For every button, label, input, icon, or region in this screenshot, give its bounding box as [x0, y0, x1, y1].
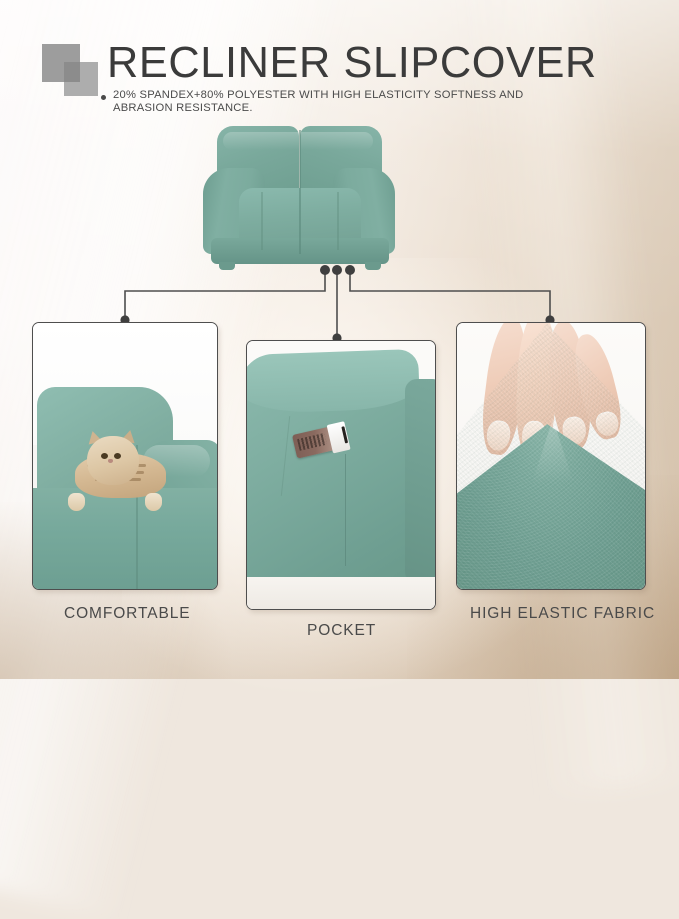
caption-high-elastic-fabric: HIGH ELASTIC FABRIC: [470, 605, 655, 623]
feature-panel-high-elastic-fabric[interactable]: [456, 322, 646, 590]
kitten-eye-left: [101, 453, 108, 459]
panel-image-comfortable: [33, 323, 217, 589]
feature-panel-pocket[interactable]: [246, 340, 436, 610]
pocket-floor-shadow: [247, 577, 435, 609]
connector-line-left: [125, 272, 325, 318]
subtitle-block: 20% SPANDEX+80% POLYESTER WITH HIGH ELAS…: [101, 89, 531, 114]
page-title: RECLINER SLIPCOVER: [107, 39, 597, 87]
caption-pocket: POCKET: [307, 622, 376, 640]
kitten-nose: [108, 459, 113, 463]
kitten-paw-left: [68, 493, 85, 511]
hero-product-image: [205, 126, 473, 274]
kitten-eye-right: [114, 453, 121, 459]
sofa-foot-right: [365, 262, 381, 270]
logo-square-overlap: [64, 62, 80, 82]
connector-line-right: [350, 272, 550, 318]
kitten-head: [87, 436, 138, 485]
bullet-dot-icon: [101, 95, 106, 100]
kitten-paw-right: [145, 493, 162, 511]
subtitle-text: 20% SPANDEX+80% POLYESTER WITH HIGH ELAS…: [113, 89, 531, 114]
sofa-center-seam: [299, 130, 301, 254]
caption-comfortable: COMFORTABLE: [64, 605, 190, 623]
sofa-foot-left: [219, 262, 235, 270]
sofa-back-highlight: [223, 132, 373, 150]
header: RECLINER SLIPCOVER 20% SPANDEX+80% POLYE…: [0, 0, 679, 126]
panel-image-elastic-fabric: [457, 323, 645, 589]
armrest-side-panel: [405, 379, 436, 583]
sofa-seam-left: [261, 192, 263, 250]
overlapping-squares-logo-icon: [42, 44, 98, 96]
panel-image-pocket: [247, 341, 435, 609]
feature-panel-comfortable[interactable]: [32, 322, 218, 590]
remote-buttons: [297, 434, 326, 451]
sofa-seam-right: [337, 192, 339, 250]
armrest-vertical-seam: [345, 454, 346, 567]
kitten-illustration: [66, 429, 173, 509]
